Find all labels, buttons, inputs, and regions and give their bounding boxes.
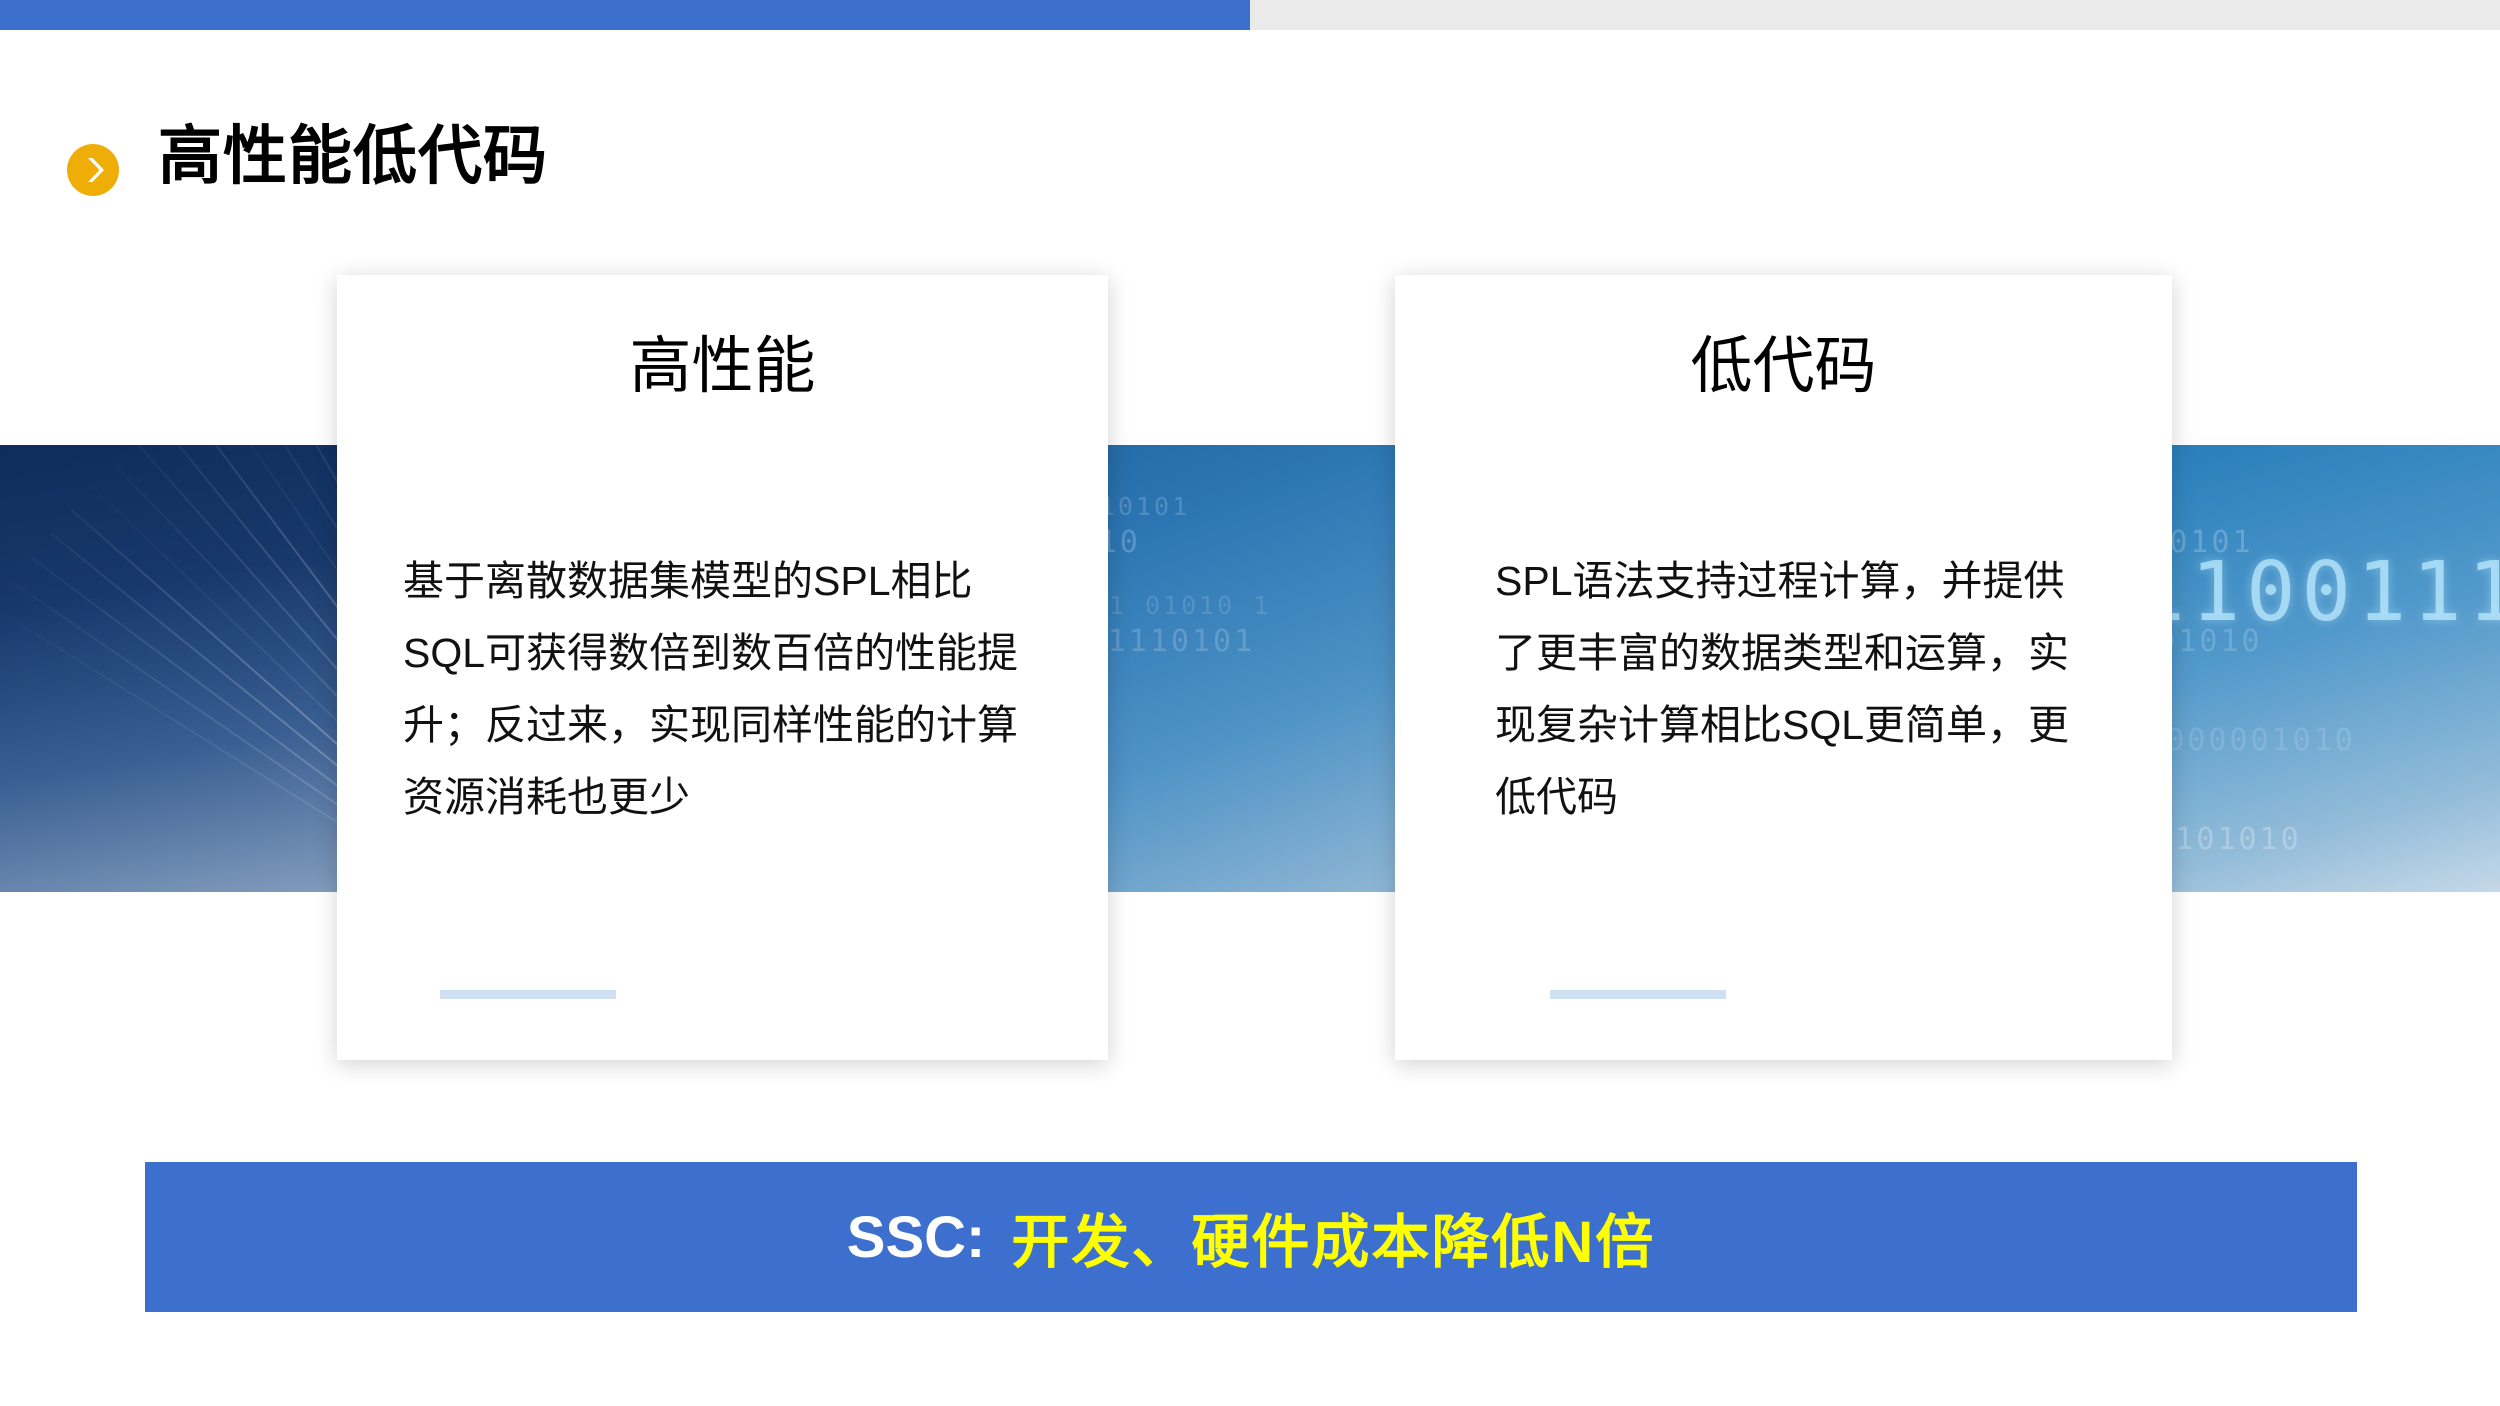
top-accent-bar [0, 0, 2500, 30]
feature-card-performance[interactable]: 高性能 基于离散数据集模型的SPL相比SQL可获得数倍到数百倍的性能提升；反过来… [337, 275, 1108, 1060]
card-body-text: 基于离散数据集模型的SPL相比SQL可获得数倍到数百倍的性能提升；反过来，实现同… [337, 545, 1108, 834]
banner-highlight-label: 开发、硬件成本降低N倍 [1011, 1195, 1655, 1279]
card-title: 高性能 [337, 330, 1108, 404]
slide-header: 高性能低代码 [0, 60, 2500, 170]
banner-prefix-label: SSC: [847, 1204, 986, 1271]
top-bar-blue-segment [0, 0, 1250, 30]
page-title: 高性能低代码 [158, 120, 548, 194]
chevron-right-circle-icon [67, 144, 119, 196]
summary-banner: SSC: 开发、硬件成本降低N倍 [145, 1162, 2357, 1312]
card-body-text: SPL语法支持过程计算，并提供了更丰富的数据类型和运算，实现复杂计算相比SQL更… [1395, 545, 2172, 834]
summary-banner-text: SSC: 开发、硬件成本降低N倍 [145, 1162, 2357, 1312]
feature-card-lowcode[interactable]: 低代码 SPL语法支持过程计算，并提供了更丰富的数据类型和运算，实现复杂计算相比… [1395, 275, 2172, 1060]
card-accent-rule [1550, 990, 1726, 999]
card-title: 低代码 [1395, 330, 2172, 404]
card-accent-rule [440, 990, 616, 999]
